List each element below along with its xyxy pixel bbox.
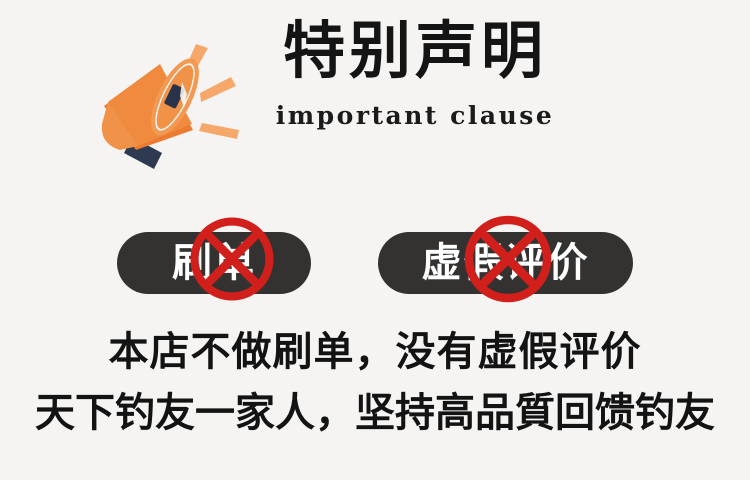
- prohibited-pill-fake-reviews: 虚假评价: [378, 232, 633, 294]
- pill-label: 刷单: [172, 243, 256, 283]
- page-title: 特别声明: [250, 18, 580, 87]
- title-block: 特别声明 important clause: [250, 18, 580, 130]
- prohibited-items-row: 刷单 虚假评价: [0, 232, 750, 294]
- pill-label: 虚假评价: [422, 243, 590, 283]
- megaphone-icon: [96, 32, 256, 172]
- slogan-line-1: 本店不做刷单，没有虚假评价: [0, 326, 750, 379]
- slogan-line-2: 天下钓友一家人，坚持高品質回馈钓友: [0, 387, 750, 440]
- slogan-block: 本店不做刷单，没有虚假评价 天下钓友一家人，坚持高品質回馈钓友: [0, 326, 750, 440]
- special-statement-banner: 特别声明 important clause 刷单 虚假评价 本店不做刷单，没有虚…: [0, 0, 750, 480]
- prohibited-pill-shuadan: 刷单: [117, 232, 311, 294]
- page-subtitle: important clause: [250, 101, 580, 130]
- banner-header: 特别声明 important clause: [0, 18, 750, 188]
